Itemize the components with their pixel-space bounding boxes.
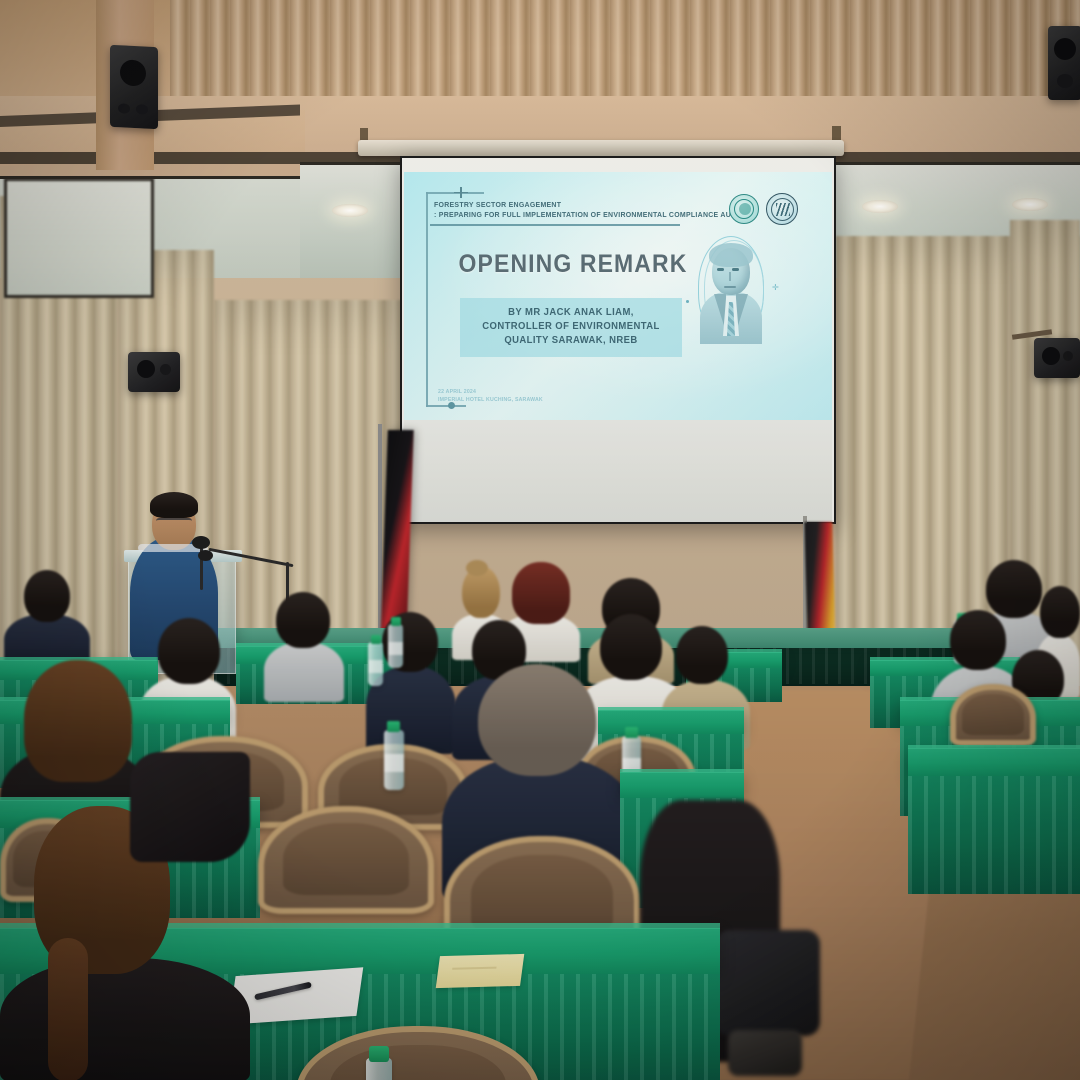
downlight <box>1012 198 1048 211</box>
microphone-right <box>198 550 213 561</box>
wall-speaker-upper-right <box>1048 26 1080 100</box>
conference-hall-photo: FORESTRY SECTOR ENGAGEMENT : PREPARING F… <box>0 0 1080 1080</box>
presentation-slide: FORESTRY SECTOR ENGAGEMENT : PREPARING F… <box>404 172 832 420</box>
banquet-chair-foreground <box>296 1026 540 1080</box>
slide-footer-line2: IMPERIAL HOTEL KUCHING, SARAWAK <box>438 396 618 404</box>
water-bottle <box>384 730 404 790</box>
banquet-chair <box>258 806 434 914</box>
wall-speaker-upper-left <box>110 45 158 130</box>
backpack <box>716 930 820 1036</box>
audience-member <box>4 570 90 666</box>
slide-subtitle-line3: QUALITY SARAWAK, NREB <box>473 334 668 348</box>
speaker-portrait-illustration <box>694 234 768 346</box>
window-left <box>4 178 154 298</box>
slide-header-line2: : PREPARING FOR FULL IMPLEMENTATION OF E… <box>434 210 707 220</box>
slide-footer-line1: 22 APRIL 2024 <box>438 388 618 396</box>
water-bottle <box>368 642 383 686</box>
microphone-left <box>192 536 210 549</box>
nreb-emblem-icon <box>729 194 759 224</box>
shoe <box>728 1030 802 1076</box>
audience-member <box>264 592 344 700</box>
slide-header-line1: FORESTRY SECTOR ENGAGEMENT <box>434 200 707 210</box>
sarawak-forestry-emblem-icon <box>766 193 798 225</box>
downlight <box>862 200 898 213</box>
wall-speaker-lower-left <box>128 352 180 392</box>
projection-screen-housing <box>358 140 844 156</box>
slide-title: OPENING REMARK <box>449 250 697 279</box>
slide-subtitle-box: BY MR JACK ANAK LIAM, CONTROLLER OF ENVI… <box>460 298 682 357</box>
slide-footer: 22 APRIL 2024 IMPERIAL HOTEL KUCHING, SA… <box>438 388 618 404</box>
audience-member-sleeve <box>130 752 250 862</box>
downlight <box>332 204 368 217</box>
ponytail <box>48 938 88 1080</box>
water-bottle <box>388 624 403 668</box>
slide-header: FORESTRY SECTOR ENGAGEMENT : PREPARING F… <box>434 200 724 220</box>
eyeglasses-icon <box>156 518 192 524</box>
screen-blank-area <box>404 420 832 522</box>
slide-subtitle-line2: CONTROLLER OF ENVIRONMENTAL <box>473 320 668 334</box>
table-row-4-far-right <box>908 748 1080 776</box>
water-bottle <box>366 1058 392 1080</box>
banquet-chair <box>950 684 1036 746</box>
slide-subtitle-line1: BY MR JACK ANAK LIAM, <box>473 306 668 320</box>
yellow-note-card <box>436 954 525 988</box>
wall-speaker-lower-right <box>1034 338 1080 378</box>
slide-header-rule <box>430 224 680 226</box>
projection-screen: FORESTRY SECTOR ENGAGEMENT : PREPARING F… <box>400 156 836 524</box>
